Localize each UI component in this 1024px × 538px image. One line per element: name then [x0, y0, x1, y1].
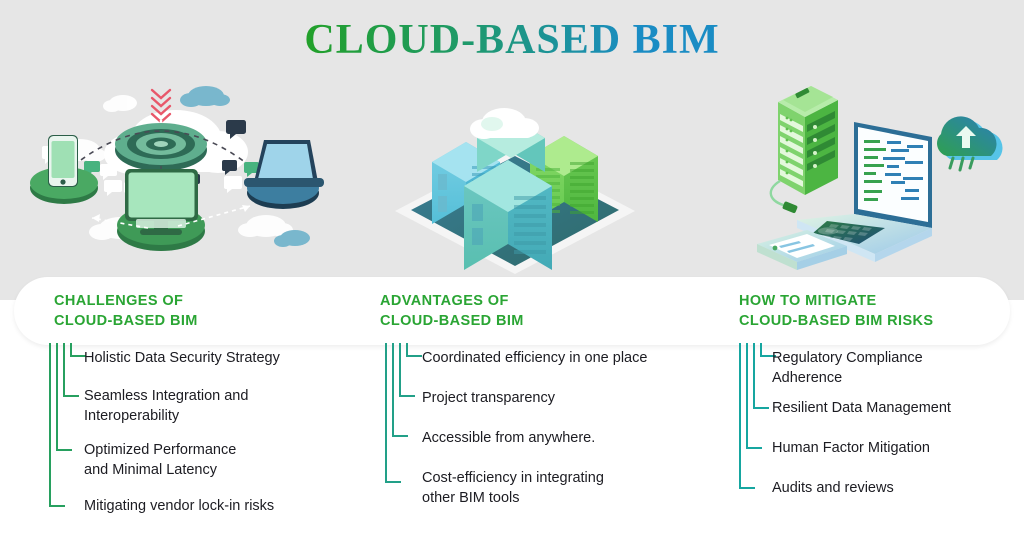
bracket-connectors-advantages [384, 344, 424, 514]
list-item: Seamless Integration and Interoperabilit… [84, 386, 248, 426]
list-item: Coordinated efficiency in one place [422, 348, 647, 368]
list-item: Project transparency [422, 388, 555, 408]
list-item: Human Factor Mitigation [772, 438, 930, 458]
column-heading-advantages-line1: ADVANTAGES OF [380, 291, 524, 311]
list-item: Cost-efficiency in integrating other BIM… [422, 468, 604, 508]
bracket-connectors-challenges [48, 344, 88, 524]
server-laptop-cloud-upload-illustration [735, 78, 1020, 283]
list-item: Mitigating vendor lock-in risks [84, 496, 274, 516]
list-item: Regulatory Compliance Adherence [772, 348, 923, 388]
list-item: Audits and reviews [772, 478, 894, 498]
isometric-buildings-cloud-illustration [380, 78, 650, 283]
column-heading-challenges: CHALLENGES OF CLOUD-BASED BIM [54, 291, 198, 331]
list-item: Resilient Data Management [772, 398, 951, 418]
column-heading-challenges-line2: CLOUD-BASED BIM [54, 311, 198, 331]
column-heading-challenges-line1: CHALLENGES OF [54, 291, 198, 311]
list-item: Optimized Performance and Minimal Latenc… [84, 440, 236, 480]
column-heading-mitigate: HOW TO MITIGATE CLOUD-BASED BIM RISKS [739, 291, 934, 331]
column-heading-mitigate-line2: CLOUD-BASED BIM RISKS [739, 311, 934, 331]
column-heading-advantages: ADVANTAGES OF CLOUD-BASED BIM [380, 291, 524, 331]
page-title: CLOUD-BASED BIM [0, 16, 1024, 64]
column-heading-advantages-line2: CLOUD-BASED BIM [380, 311, 524, 331]
cloud-network-devices-illustration [28, 78, 348, 283]
list-item: Holistic Data Security Strategy [84, 348, 280, 368]
list-item: Accessible from anywhere. [422, 428, 595, 448]
column-heading-mitigate-line1: HOW TO MITIGATE [739, 291, 934, 311]
